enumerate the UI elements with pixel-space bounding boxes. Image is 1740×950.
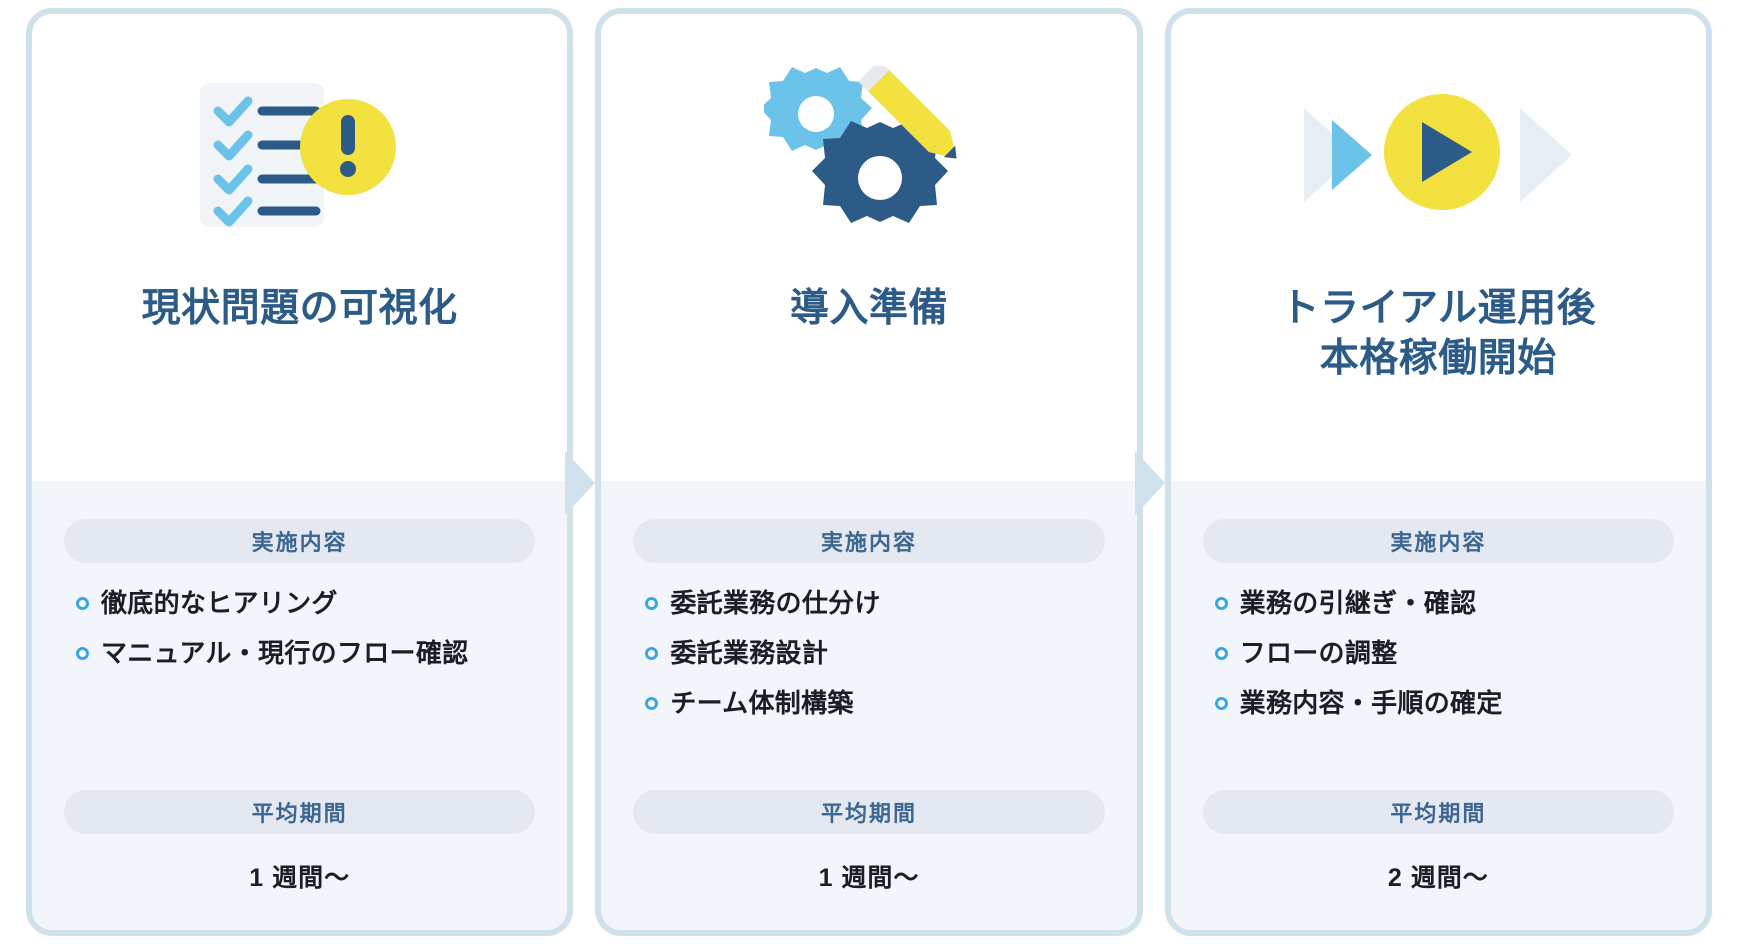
list-item: マニュアル・現行のフロー確認 <box>76 635 535 672</box>
card-header-3: トライアル運用後 本格稼働開始 <box>1171 14 1706 481</box>
gears-pencil-icon <box>601 14 1136 284</box>
bullet-circle-icon <box>76 597 89 610</box>
bullet-circle-icon <box>645 647 658 660</box>
duration-value-3: 2 週間〜 <box>1388 858 1489 894</box>
list-item-label: 徹底的なヒアリング <box>101 585 338 622</box>
list-item: 業務の引継ぎ・確認 <box>1215 585 1674 622</box>
list-item: フローの調整 <box>1215 635 1674 672</box>
bullet-circle-icon <box>1215 597 1228 610</box>
list-item-label: マニュアル・現行のフロー確認 <box>101 635 468 672</box>
process-flow-page: 現状問題の可視化 実施内容 徹底的なヒアリング マニュアル・現行のフロー確認 <box>0 0 1740 950</box>
list-item: チーム体制構築 <box>645 685 1104 722</box>
card-title-line-1: トライアル運用後 <box>1281 287 1597 330</box>
checklist-alert-icon <box>32 14 567 284</box>
card-title-line-2: 本格稼働開始 <box>1320 337 1557 380</box>
list-item: 委託業務設計 <box>645 635 1104 672</box>
bullet-circle-icon <box>645 597 658 610</box>
process-step-card-1[interactable]: 現状問題の可視化 実施内容 徹底的なヒアリング マニュアル・現行のフロー確認 <box>26 8 573 936</box>
duration-value-1: 1 週間〜 <box>249 858 350 894</box>
content-heading-pill-1: 実施内容 <box>64 519 535 563</box>
process-step-card-3[interactable]: トライアル運用後 本格稼働開始 実施内容 業務の引継ぎ・確認 フローの調整 <box>1165 8 1712 936</box>
card-body-2: 実施内容 委託業務の仕分け 委託業務設計 チーム体制構築 <box>601 481 1136 930</box>
step-connector-arrow-1 <box>565 451 595 515</box>
content-heading-pill-2: 実施内容 <box>633 519 1104 563</box>
process-step-card-2[interactable]: 導入準備 実施内容 委託業務の仕分け 委託業務設計 <box>595 8 1142 936</box>
card-body-1: 実施内容 徹底的なヒアリング マニュアル・現行のフロー確認 平 <box>32 481 567 930</box>
content-list-1: 徹底的なヒアリング マニュアル・現行のフロー確認 <box>64 585 535 685</box>
list-item-label: 委託業務設計 <box>670 635 828 672</box>
list-item: 委託業務の仕分け <box>645 585 1104 622</box>
bullet-circle-icon <box>76 647 89 660</box>
duration-heading-pill-3: 平均期間 <box>1203 790 1674 834</box>
list-item-label: 業務内容・手順の確定 <box>1240 685 1503 722</box>
bullet-circle-icon <box>1215 697 1228 710</box>
card-header-1: 現状問題の可視化 <box>32 14 567 481</box>
step-connector-arrow-2 <box>1135 451 1165 515</box>
bullet-circle-icon <box>645 697 658 710</box>
process-steps-container: 現状問題の可視化 実施内容 徹底的なヒアリング マニュアル・現行のフロー確認 <box>26 8 1712 938</box>
list-item-label: 委託業務の仕分け <box>670 585 880 622</box>
card-title-1: 現状問題の可視化 <box>124 284 476 334</box>
bullet-circle-icon <box>1215 647 1228 660</box>
list-item: 徹底的なヒアリング <box>76 585 535 622</box>
list-item-label: フローの調整 <box>1240 635 1398 672</box>
duration-heading-pill-2: 平均期間 <box>633 790 1104 834</box>
card-header-2: 導入準備 <box>601 14 1136 481</box>
duration-value-2: 1 週間〜 <box>819 858 920 894</box>
list-item-label: チーム体制構築 <box>670 685 853 722</box>
content-list-3: 業務の引継ぎ・確認 フローの調整 業務内容・手順の確定 <box>1203 585 1674 735</box>
card-title-3: トライアル運用後 本格稼働開始 <box>1263 284 1615 384</box>
content-heading-pill-3: 実施内容 <box>1203 519 1674 563</box>
card-body-3: 実施内容 業務の引継ぎ・確認 フローの調整 業務内容・手順の確定 <box>1171 481 1706 930</box>
content-list-2: 委託業務の仕分け 委託業務設計 チーム体制構築 <box>633 585 1104 735</box>
card-title-2: 導入準備 <box>772 284 966 334</box>
play-forward-icon <box>1171 14 1706 284</box>
list-item: 業務内容・手順の確定 <box>1215 685 1674 722</box>
duration-heading-pill-1: 平均期間 <box>64 790 535 834</box>
list-item-label: 業務の引継ぎ・確認 <box>1240 585 1477 622</box>
